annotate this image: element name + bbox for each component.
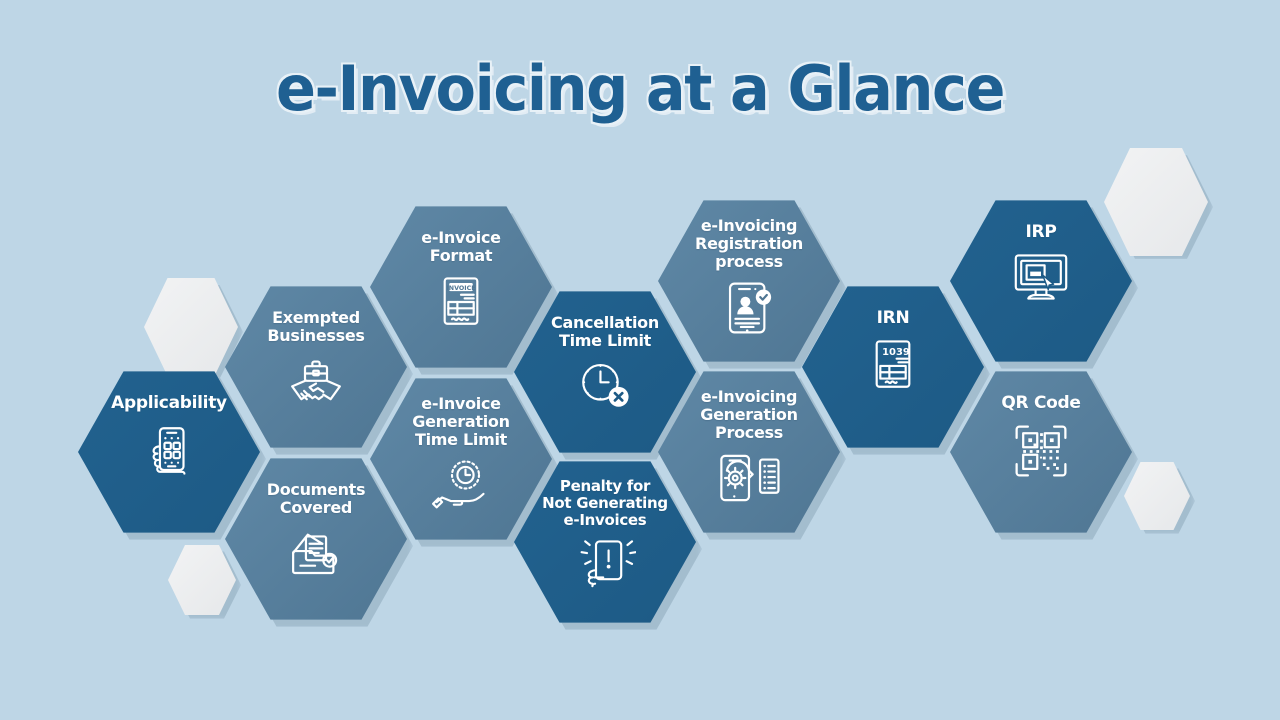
invoice-number-1039-icon: 1039 — [867, 336, 919, 394]
hexagon-label-e-invoicing-registration-process: e-Invoicing Registration process — [695, 217, 803, 271]
hexagon-irp[interactable]: IRP — [950, 197, 1132, 365]
handshake-briefcase-icon — [283, 353, 349, 405]
hexagon-qr-code[interactable]: QR Code — [950, 368, 1132, 536]
page-title: e-Invoicing at a Glance — [32, 52, 1248, 125]
hexagon-label-e-invoicing-generation-process: e-Invoicing Generation Process — [700, 388, 797, 442]
phone-alert-hand-icon — [574, 536, 636, 590]
svg-text:INVOICE: INVOICE — [446, 285, 475, 292]
hexagon-label-irn: IRN — [877, 309, 910, 328]
hexagon-label-cancellation-time-limit: Cancellation Time Limit — [551, 314, 659, 350]
infographic-canvas: e-Invoicing at a Glance Applicability Ex… — [0, 0, 1280, 720]
hexagon-label-exempted-businesses: Exempted Businesses — [267, 309, 364, 345]
clock-cancel-icon — [576, 358, 634, 412]
qr-code-icon — [1011, 421, 1071, 481]
hexagon-label-e-invoice-format: e-Invoice Format — [421, 229, 500, 265]
hexagon-label-penalty-for-not-generating-e-invoices: Penalty for Not Generating e-Invoices — [542, 478, 668, 528]
phone-user-verified-icon — [721, 279, 777, 337]
deco-left — [144, 278, 238, 376]
svg-text:1039: 1039 — [882, 347, 910, 358]
desktop-monitor-cursor-icon — [1008, 250, 1074, 304]
hexagon-label-documents-covered: Documents Covered — [267, 481, 366, 517]
hand-holding-clock-icon — [429, 457, 493, 511]
hexagon-label-applicability: Applicability — [111, 394, 227, 413]
hand-holding-phone-icon — [140, 421, 198, 479]
phone-gear-list-icon — [714, 450, 784, 506]
folder-documents-check-icon — [284, 525, 348, 579]
deco-right — [1124, 462, 1190, 530]
hexagon-label-e-invoice-generation-time-limit: e-Invoice Generation Time Limit — [412, 395, 509, 449]
hexagon-label-qr-code: QR Code — [1001, 394, 1080, 413]
invoice-document-icon: INVOICE — [435, 273, 487, 331]
hexagon-label-irp: IRP — [1026, 223, 1057, 242]
